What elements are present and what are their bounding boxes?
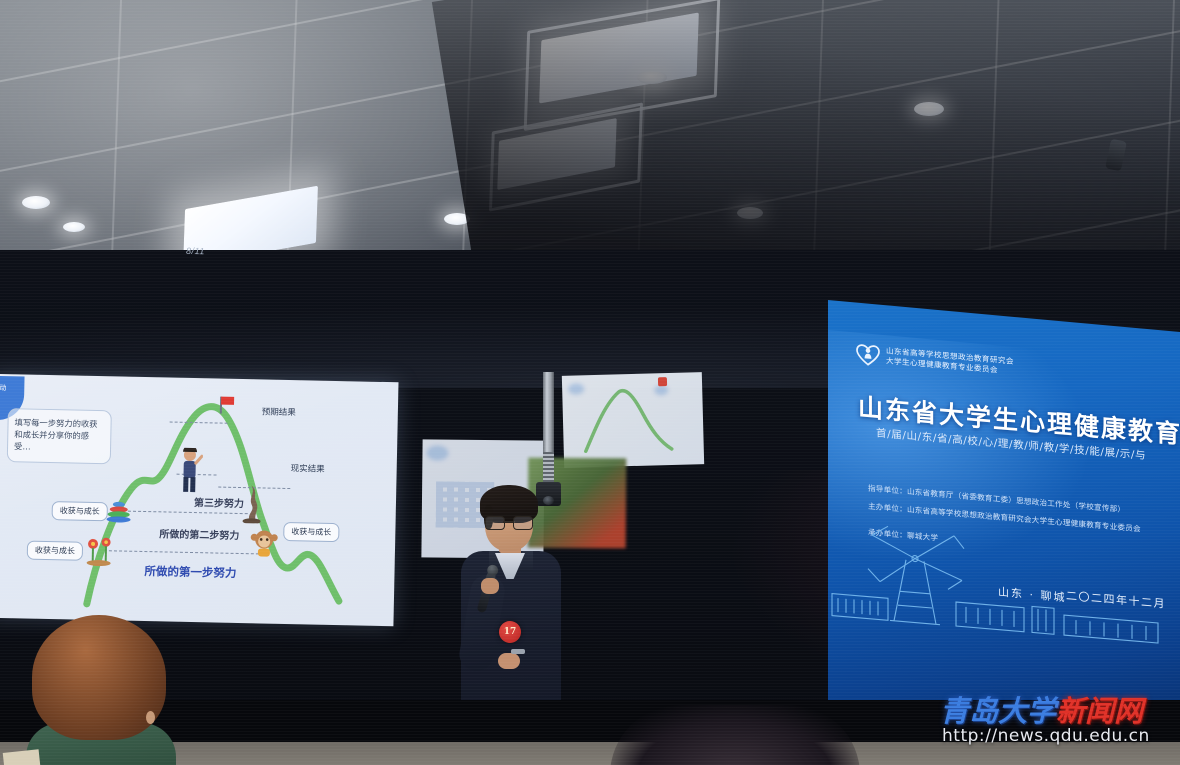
audience-member-left	[20, 615, 180, 765]
flowers-icon	[83, 536, 118, 567]
downlight-2	[63, 222, 85, 232]
watermark-brand-red: 新闻网	[1056, 694, 1143, 728]
secondary-screen-mountain	[562, 372, 704, 468]
climber-figure-icon	[176, 448, 203, 495]
watermark-url: http://news.qdu.edu.cn	[942, 726, 1150, 746]
eyeglasses-icon	[485, 516, 533, 528]
stacked-rings-icon	[106, 500, 132, 523]
label-real-result: 现实结果	[291, 462, 325, 475]
committee-logo: 山东省高等学校思想政治教育研究会 大学生心理健康教育专业委员会	[856, 342, 1014, 379]
conference-banner-screen: 山东省高等学校思想政治教育研究会 大学生心理健康教育专业委员会 山东省大学生心理…	[828, 300, 1180, 733]
gain-box-2: 收获与成长	[27, 541, 83, 561]
audience-paper	[3, 749, 42, 765]
gain-box-3: 收获与成长	[283, 522, 339, 542]
slide-page-number: 8/11	[186, 246, 205, 256]
watermark-brand-cn: 青岛大学	[940, 694, 1056, 728]
speaker-hand-mic	[481, 578, 499, 594]
label-step-two: 所做的第二步努力	[159, 525, 239, 542]
label-step-three: 第三步努力	[194, 494, 244, 510]
label-expected-result: 预期结果	[262, 405, 296, 418]
audience-ear	[146, 711, 155, 724]
contestant-number-badge: 17	[499, 621, 521, 643]
news-site-watermark: 青岛大学新闻网 http://news.qdu.edu.cn	[940, 688, 1180, 758]
photo-stage: 活动 填写每一步努力的收获和成长并分享你的感受… 预期结果 现实结果 第三步努力…	[0, 0, 1180, 765]
left-projection-slide: 活动 填写每一步努力的收获和成长并分享你的感受… 预期结果 现实结果 第三步努力…	[0, 374, 399, 626]
gain-box-1: 收获与成长	[52, 501, 108, 521]
camera-pole-coil	[543, 452, 554, 482]
audience-member-right	[610, 705, 860, 765]
speaker-hand-resting	[498, 653, 520, 669]
downlight-1	[22, 196, 50, 209]
monkey-icon	[249, 527, 280, 558]
tree-stump-icon	[238, 483, 265, 524]
label-step-one: 所做的第一步努力	[144, 563, 236, 581]
wristwatch-icon	[511, 649, 525, 654]
heart-person-logo-icon	[856, 342, 880, 368]
